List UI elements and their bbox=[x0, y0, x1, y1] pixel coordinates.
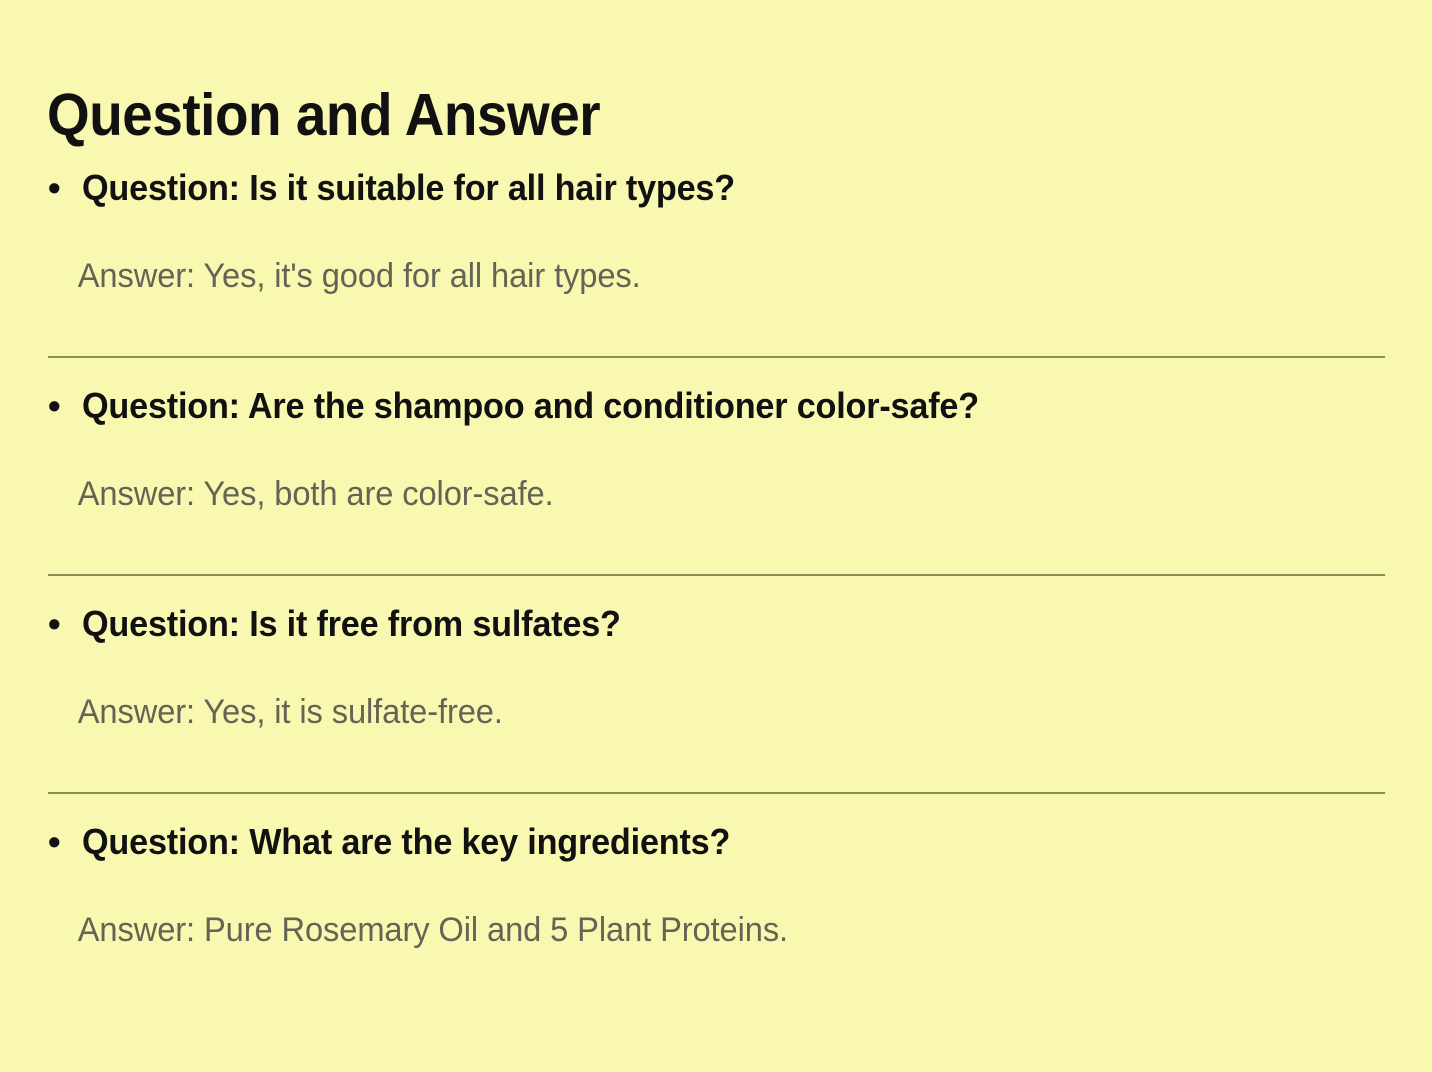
faq-question-row: • Question: Is it suitable for all hair … bbox=[0, 163, 1432, 213]
qa-page: Question and Answer • Question: Is it su… bbox=[0, 0, 1432, 1072]
faq-item: • Question: Is it free from sulfates? An… bbox=[0, 599, 1432, 817]
faq-question-row: • Question: Are the shampoo and conditio… bbox=[0, 381, 1432, 431]
faq-question: Question: What are the key ingredients? bbox=[82, 817, 730, 867]
bullet-icon: • bbox=[48, 381, 82, 431]
faq-item: • Question: Are the shampoo and conditio… bbox=[0, 381, 1432, 599]
page-title: Question and Answer bbox=[47, 83, 600, 147]
faq-question-row: • Question: Is it free from sulfates? bbox=[0, 599, 1432, 649]
faq-answer: Answer: Pure Rosemary Oil and 5 Plant Pr… bbox=[0, 908, 1375, 952]
faq-answer: Answer: Yes, both are color-safe. bbox=[0, 472, 1375, 516]
bullet-icon: • bbox=[48, 599, 82, 649]
faq-question-row: • Question: What are the key ingredients… bbox=[0, 817, 1432, 867]
bullet-icon: • bbox=[48, 163, 82, 213]
faq-question: Question: Is it free from sulfates? bbox=[82, 599, 621, 649]
faq-question: Question: Is it suitable for all hair ty… bbox=[82, 163, 735, 213]
faq-item: • Question: What are the key ingredients… bbox=[0, 817, 1432, 1035]
faq-answer: Answer: Yes, it is sulfate-free. bbox=[0, 690, 1375, 734]
faq-list: • Question: Is it suitable for all hair … bbox=[0, 163, 1432, 1035]
faq-answer: Answer: Yes, it's good for all hair type… bbox=[0, 254, 1375, 298]
faq-item: • Question: Is it suitable for all hair … bbox=[0, 163, 1432, 381]
faq-question: Question: Are the shampoo and conditione… bbox=[82, 381, 979, 431]
bullet-icon: • bbox=[48, 817, 82, 867]
